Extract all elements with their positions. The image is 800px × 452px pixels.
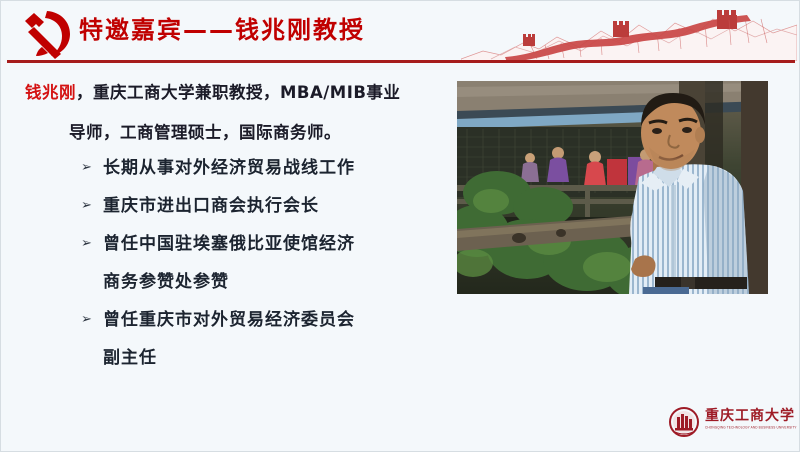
- great-wall-illustration-icon: [461, 3, 797, 61]
- speaker-intro-line2: 导师，工商管理硕士，国际商务师。: [25, 113, 445, 153]
- university-name-cn: 重庆工商大学: [705, 408, 785, 424]
- list-item-label-continued: 副主任: [103, 339, 461, 377]
- arrow-bullet-icon: ➢: [81, 187, 93, 225]
- list-item-label: 曾任重庆市对外贸易经济委员会: [103, 310, 355, 330]
- university-logo: 重庆工商大学 CHONGQING TECHNOLOGY AND BUSINESS…: [669, 405, 785, 441]
- list-item: ➢ 曾任中国驻埃塞俄比亚使馆经济 商务参赞处参赞: [81, 225, 461, 301]
- speaker-photo: [457, 81, 768, 294]
- slide: 特邀嘉宾——钱兆刚教授: [0, 0, 800, 452]
- arrow-bullet-icon: ➢: [81, 301, 93, 339]
- header-divider: [7, 60, 795, 63]
- list-item: ➢ 曾任重庆市对外贸易经济委员会 副主任: [81, 301, 461, 377]
- list-item-label-continued: 商务参赞处参赞: [103, 263, 461, 301]
- list-item-label: 重庆市进出口商会执行会长: [103, 196, 319, 216]
- arrow-bullet-icon: ➢: [81, 225, 93, 263]
- ctbu-seal-icon: [669, 407, 699, 437]
- arrow-bullet-icon: ➢: [81, 149, 93, 187]
- speaker-intro-line1: ，重庆工商大学兼职教授，MBA/MIB事业: [76, 83, 400, 102]
- page-title: 特邀嘉宾——钱兆刚教授: [79, 13, 365, 47]
- speaker-intro-paragraph: 钱兆刚，重庆工商大学兼职教授，MBA/MIB事业 导师，工商管理硕士，国际商务师…: [25, 73, 445, 153]
- list-item-label: 曾任中国驻埃塞俄比亚使馆经济: [103, 234, 355, 254]
- speaker-name: 钱兆刚: [25, 83, 76, 102]
- university-logo-text: 重庆工商大学 CHONGQING TECHNOLOGY AND BUSINESS…: [705, 408, 785, 430]
- hammer-and-sickle-icon: [17, 7, 75, 59]
- university-name-en: CHONGQING TECHNOLOGY AND BUSINESS UNIVER…: [705, 424, 785, 431]
- slide-header: 特邀嘉宾——钱兆刚教授: [1, 1, 800, 63]
- speaker-credentials-list: ➢ 长期从事对外经济贸易战线工作 ➢ 重庆市进出口商会执行会长 ➢ 曾任中国驻埃…: [81, 149, 461, 377]
- list-item: ➢ 重庆市进出口商会执行会长: [81, 187, 461, 225]
- list-item-label: 长期从事对外经济贸易战线工作: [103, 158, 355, 178]
- list-item: ➢ 长期从事对外经济贸易战线工作: [81, 149, 461, 187]
